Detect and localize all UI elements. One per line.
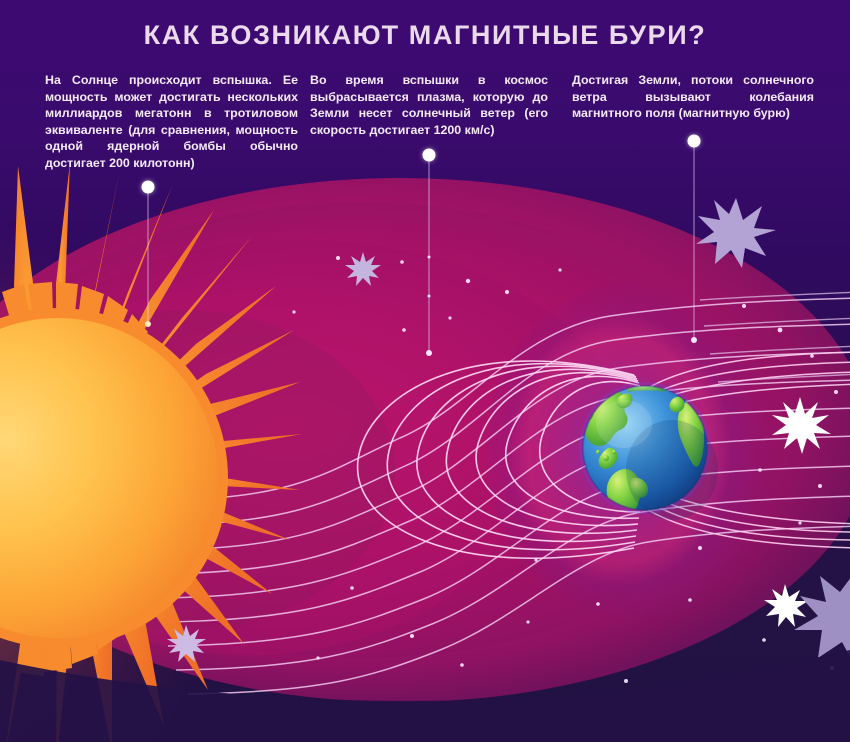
waypoint-dot-plasma-a bbox=[428, 256, 431, 259]
annotation-text-magnetic-storm: Достигая Земли, потоки солнечного ветра … bbox=[572, 72, 814, 122]
annotation-text-plasma-ejection: Во время вспышки в космос выбрасывается … bbox=[310, 72, 548, 138]
target-dot-flare-power bbox=[145, 321, 151, 327]
leader-line-magnetic-storm bbox=[694, 141, 695, 340]
marker-dot-plasma-ejection[interactable] bbox=[423, 149, 436, 162]
infographic-canvas: КАК ВОЗНИКАЮТ МАГНИТНЫЕ БУРИ? На Солнце … bbox=[0, 0, 850, 742]
page-title: КАК ВОЗНИКАЮТ МАГНИТНЫЕ БУРИ? bbox=[0, 20, 850, 51]
target-dot-plasma-ejection bbox=[426, 350, 432, 356]
leader-line-plasma-ejection bbox=[429, 155, 430, 353]
marker-dot-magnetic-storm[interactable] bbox=[688, 135, 701, 148]
waypoint-dot-plasma-b bbox=[428, 295, 431, 298]
target-dot-magnetic-storm bbox=[691, 337, 697, 343]
annotation-text-flare-power: На Солнце происходит вспышка. Ее мощност… bbox=[45, 72, 298, 172]
marker-dot-flare-power[interactable] bbox=[142, 181, 155, 194]
leader-line-flare-power bbox=[148, 187, 149, 324]
